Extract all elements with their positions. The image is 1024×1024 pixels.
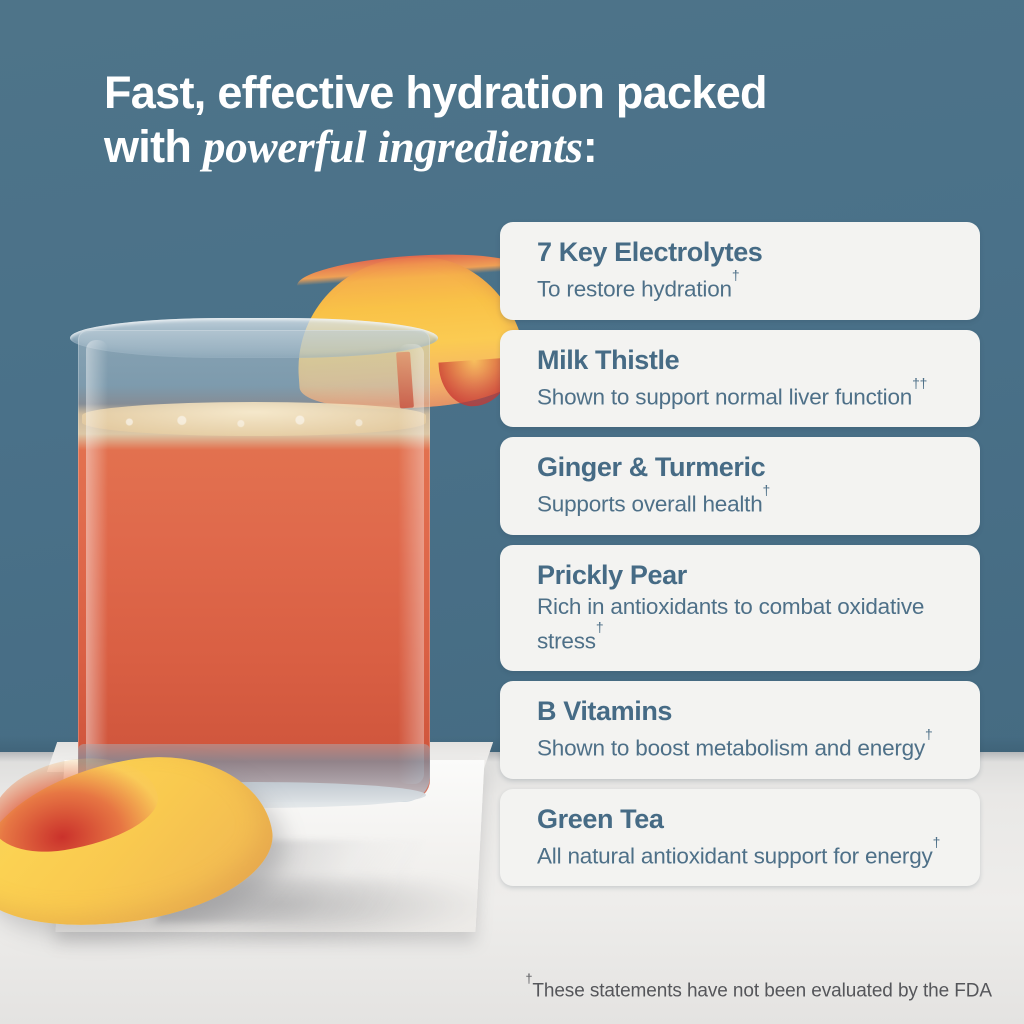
ingredient-description: Supports overall health†: [537, 484, 960, 519]
headline-line-1: Fast, effective hydration packed: [104, 66, 944, 120]
ingredient-card[interactable]: Milk ThistleShown to support normal live…: [500, 330, 980, 428]
fda-disclaimer: †These statements have not been evaluate…: [0, 972, 1008, 1004]
headline-line-2-suffix: :: [583, 121, 597, 172]
ingredient-description-text: Shown to boost metabolism and energy: [537, 736, 925, 761]
ingredient-description: Shown to boost metabolism and energy†: [537, 728, 960, 763]
ingredient-name: Milk Thistle: [537, 344, 960, 377]
infographic-canvas: Fast, effective hydration packed with po…: [0, 0, 1024, 1024]
ingredient-footnote-marker: †: [933, 834, 941, 850]
ingredient-card-list: 7 Key ElectrolytesTo restore hydration†M…: [500, 222, 980, 886]
page-title: Fast, effective hydration packed with po…: [104, 66, 944, 174]
ingredient-name: Green Tea: [537, 803, 960, 836]
ingredient-footnote-marker: †: [732, 267, 740, 283]
ingredient-card[interactable]: Prickly PearRich in antioxidants to comb…: [500, 545, 980, 672]
ingredient-card[interactable]: 7 Key ElectrolytesTo restore hydration†: [500, 222, 980, 320]
ingredient-card[interactable]: Ginger & TurmericSupports overall health…: [500, 437, 980, 535]
ingredient-name: Prickly Pear: [537, 559, 960, 592]
ingredient-description-text: All natural antioxidant support for ener…: [537, 843, 933, 868]
ingredient-footnote-marker: †: [763, 482, 771, 498]
footnote-marker: †: [525, 972, 532, 986]
ingredient-description: All natural antioxidant support for ener…: [537, 836, 960, 871]
juice-foam-layer: [82, 402, 426, 436]
ingredient-card[interactable]: B VitaminsShown to boost metabolism and …: [500, 681, 980, 779]
glass-left-highlight: [86, 340, 108, 788]
ingredient-footnote-marker: †: [925, 726, 933, 742]
ingredient-description: To restore hydration†: [537, 269, 960, 304]
ingredient-description-text: Supports overall health: [537, 492, 763, 517]
headline-line-2-prefix: with: [104, 121, 203, 172]
ingredient-name: 7 Key Electrolytes: [537, 236, 960, 269]
headline-emphasis: powerful ingredients: [203, 122, 583, 172]
ingredient-description: Shown to support normal liver function††: [537, 377, 960, 412]
ingredient-footnote-marker: ††: [912, 375, 927, 391]
ingredient-description: Rich in antioxidants to combat oxidative…: [537, 592, 960, 656]
headline-line-2: with powerful ingredients:: [104, 120, 944, 174]
drinking-glass: [78, 330, 430, 800]
ingredient-description-text: Shown to support normal liver function: [537, 384, 912, 409]
ingredient-footnote-marker: †: [596, 619, 604, 635]
footnote-text: These statements have not been evaluated…: [532, 980, 992, 1001]
ingredient-card[interactable]: Green TeaAll natural antioxidant support…: [500, 789, 980, 887]
ingredient-name: Ginger & Turmeric: [537, 451, 960, 484]
ingredient-description-text: To restore hydration: [537, 277, 732, 302]
ingredient-name: B Vitamins: [537, 695, 960, 728]
glass-right-highlight: [398, 344, 424, 784]
